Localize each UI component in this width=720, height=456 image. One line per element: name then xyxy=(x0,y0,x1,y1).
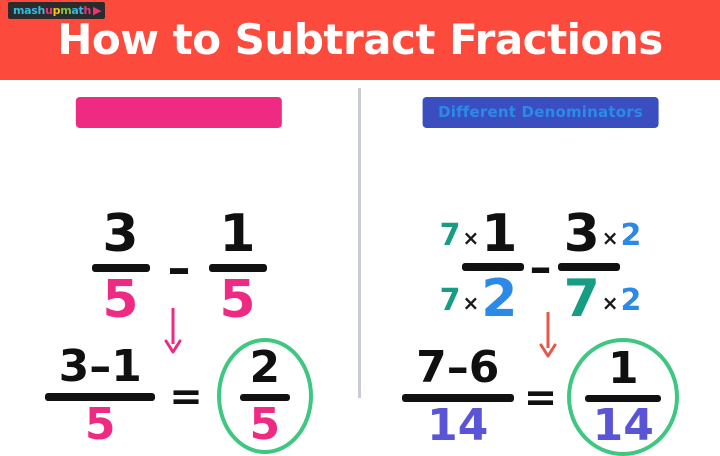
right-fraction-2-denominator-factor: 2 xyxy=(621,286,642,316)
right-answer-numerator: 1 xyxy=(608,347,639,391)
left-fraction-1-denominator: 5 xyxy=(102,274,138,326)
left-answer-denominator: 5 xyxy=(249,403,280,447)
right-working-numerator: 7–6 xyxy=(416,346,499,390)
right-fraction-2-denominator-group: 7 × 2 xyxy=(564,273,642,325)
right-working-fraction: 7–6 14 xyxy=(402,346,514,448)
left-answer-fraction: 2 5 xyxy=(240,346,290,447)
right-fraction-1: 7 × 1 7 × 2 xyxy=(434,208,524,325)
left-working-fraction: 3–1 5 xyxy=(45,345,155,447)
left-working-denominator: 5 xyxy=(85,403,116,447)
right-fraction-1-denominator-group: 7 × 2 xyxy=(440,273,518,325)
left-fraction-2-denominator: 5 xyxy=(219,274,255,326)
right-fraction-1-denominator: 2 xyxy=(481,273,517,325)
right-fraction-1-numerator-factor: 7 xyxy=(440,221,461,251)
left-fraction-1: 3 5 xyxy=(92,208,150,326)
panel-different-denominators: Different Denominators 7 × 1 7 × 2 – xyxy=(361,80,720,404)
right-equals-sign: = xyxy=(524,375,558,421)
content-area: Same Denominators 3 5 – 1 5 xyxy=(0,80,720,404)
badge-different-denominators: Different Denominators xyxy=(422,97,659,128)
right-minus-operator: – xyxy=(530,242,552,293)
left-fraction-2-numerator: 1 xyxy=(219,208,255,260)
right-fraction-1-numerator: 1 xyxy=(481,208,517,260)
right-solution-row: 7–6 14 = 1 14 xyxy=(361,338,720,456)
right-fraction-2-denominator: 7 xyxy=(564,273,600,325)
right-fraction-1-numerator-times-icon: × xyxy=(460,228,481,248)
right-fraction-2-numerator-times-icon: × xyxy=(600,228,621,248)
right-answer-fraction: 1 14 xyxy=(585,347,661,448)
left-answer-highlight: 2 5 xyxy=(217,338,313,454)
right-answer-denominator: 14 xyxy=(593,404,654,448)
right-working-denominator: 14 xyxy=(427,404,488,448)
right-fraction-1-numerator-group: 7 × 1 xyxy=(440,208,518,260)
right-problem-row: 7 × 1 7 × 2 – 3 × 2 xyxy=(361,208,720,325)
badge-same-denominators: Same Denominators xyxy=(76,97,282,128)
logo-part-1: mash xyxy=(13,5,45,16)
logo-part-2: u xyxy=(45,5,53,16)
panel-same-denominators: Same Denominators 3 5 – 1 5 xyxy=(0,80,358,404)
right-answer-highlight: 1 14 xyxy=(567,338,679,456)
left-minus-operator: – xyxy=(168,241,191,295)
left-solution-row: 3–1 5 = 2 5 xyxy=(0,338,358,454)
left-fraction-2: 1 5 xyxy=(209,208,267,326)
right-fraction-2-numerator: 3 xyxy=(564,208,600,260)
left-fraction-1-numerator: 3 xyxy=(102,208,138,260)
right-fraction-1-denominator-times-icon: × xyxy=(460,293,481,313)
right-fraction-2-numerator-group: 3 × 2 xyxy=(564,208,642,260)
header-banner: mashupmath▶ How to Subtract Fractions xyxy=(0,0,720,80)
right-fraction-2: 3 × 2 7 × 2 xyxy=(558,208,648,325)
right-fraction-2-denominator-times-icon: × xyxy=(600,293,621,313)
right-fraction-1-denominator-factor: 7 xyxy=(440,286,461,316)
left-working-numerator: 3–1 xyxy=(59,345,142,389)
left-answer-numerator: 2 xyxy=(249,346,280,390)
page-title: How to Subtract Fractions xyxy=(0,18,720,62)
right-fraction-2-numerator-factor: 2 xyxy=(621,221,642,251)
left-equals-sign: = xyxy=(169,374,203,420)
